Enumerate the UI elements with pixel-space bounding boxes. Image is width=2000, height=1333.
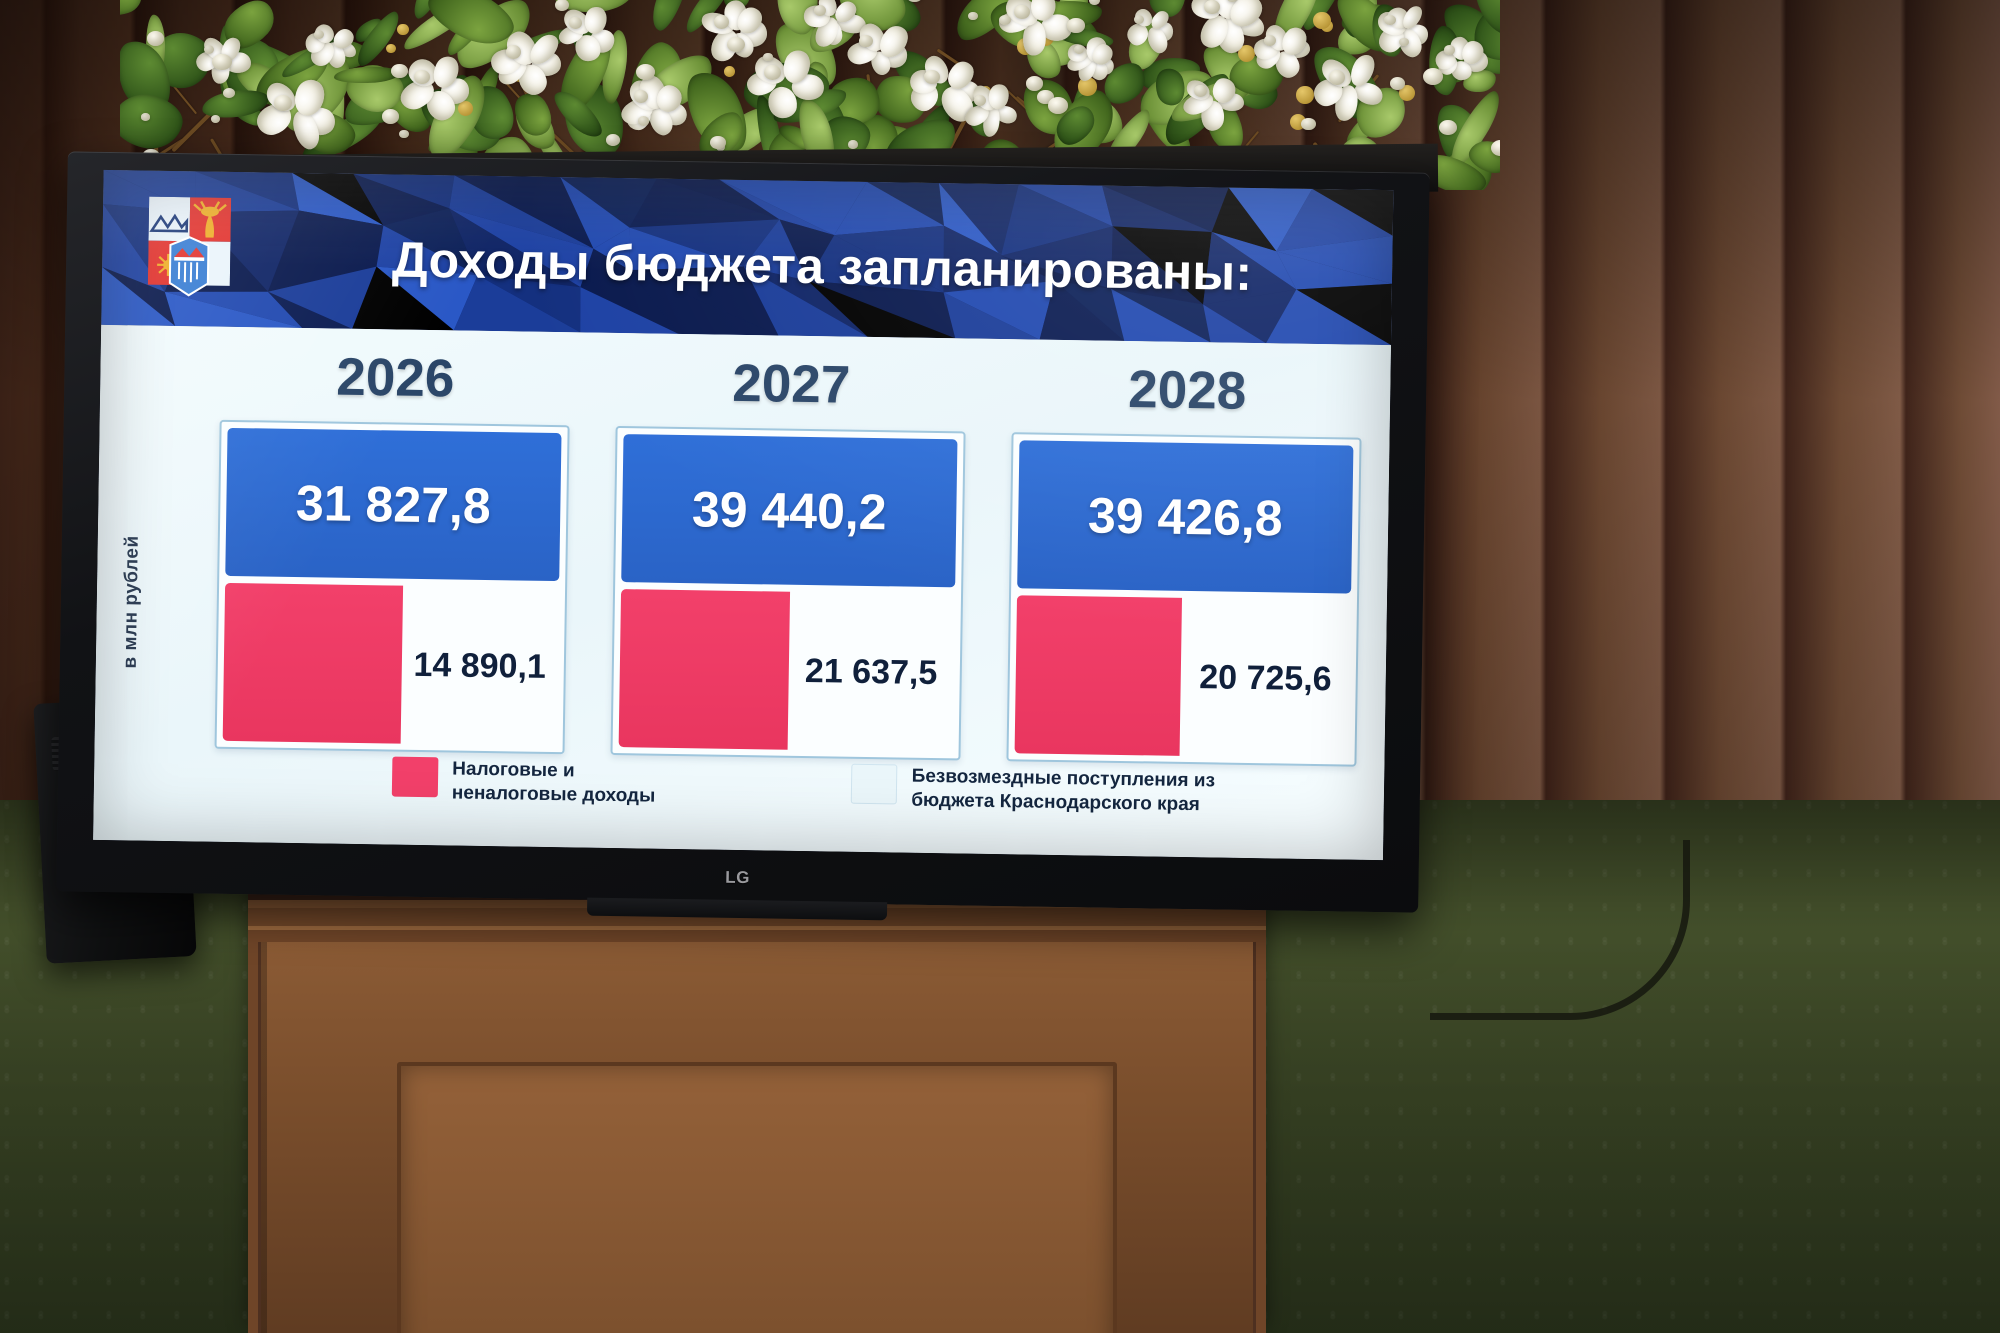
year-column-2028: 2028 39 426,8 18 737,2 20 725,6 (1006, 361, 1362, 766)
grant-revenue-segment: 20 725,6 (1180, 598, 1351, 759)
grant-revenue-value: 14 890,1 (413, 645, 546, 686)
flower-bud (399, 130, 409, 138)
chart-legend: Налоговые и неналоговые доходы Безвозмез… (213, 754, 1344, 844)
flower-bud (1399, 38, 1409, 46)
flower-bud (1048, 97, 1068, 114)
year-column-2026: 2026 31 827,8 16 937,7 14 890,1 (215, 349, 571, 754)
flower-bud (968, 12, 977, 20)
year-column-2027: 2027 39 440,2 17 802,7 21 637,5 (610, 355, 966, 760)
total-revenue-bar: 39 440,2 (621, 434, 957, 587)
year-card: 31 827,8 16 937,7 14 890,1 (215, 420, 570, 754)
tax-revenue-segment: 16 937,7 (223, 583, 403, 744)
flower-center (714, 15, 729, 29)
revenue-split-bar: 18 737,2 20 725,6 (1015, 595, 1351, 758)
presentation-slide: Доходы бюджета запланированы: в млн рубл… (93, 170, 1393, 860)
flower-bud (848, 140, 858, 149)
flower-bud (606, 134, 620, 146)
grant-revenue-segment: 21 637,5 (787, 592, 955, 753)
foliage-leaf (120, 0, 146, 21)
year-card: 39 440,2 17 802,7 21 637,5 (610, 426, 965, 760)
berry (1296, 86, 1313, 103)
tv-screen: Доходы бюджета запланированы: в млн рубл… (93, 170, 1393, 860)
axis-unit-label: в млн рублей (120, 535, 144, 668)
year-label: 2027 (616, 355, 967, 413)
berry (724, 66, 735, 77)
flower-center (924, 70, 940, 84)
legend-swatch-white (851, 764, 898, 805)
legend-swatch-pink (392, 757, 439, 798)
berry (386, 44, 395, 53)
grant-revenue-value: 21 637,5 (805, 651, 938, 692)
total-revenue-value: 39 426,8 (1088, 486, 1284, 547)
slide-header: Доходы бюджета запланированы: (101, 170, 1393, 345)
flower-center (1444, 45, 1455, 55)
flower-center (506, 45, 521, 59)
year-label: 2026 (220, 349, 571, 407)
berry (397, 24, 408, 35)
total-revenue-bar: 31 827,8 (225, 428, 561, 581)
flower-center (1204, 0, 1220, 14)
flower-bud (1390, 77, 1405, 90)
podium-inset-panel (397, 1062, 1117, 1333)
legend-item-grant: Безвозмездные поступления из бюджета Кра… (851, 764, 1215, 818)
tax-revenue-segment: 17 802,7 (619, 589, 790, 750)
flower-bud (1026, 76, 1043, 91)
total-revenue-value: 39 440,2 (692, 480, 888, 541)
flower-bud (391, 64, 408, 78)
year-columns: 2026 31 827,8 16 937,7 14 890,1 (215, 349, 1363, 767)
total-revenue-bar: 39 426,8 (1017, 440, 1353, 593)
flower-bud (727, 37, 745, 53)
legend-label: Налоговые и неналоговые доходы (452, 757, 656, 809)
berry (1313, 12, 1330, 29)
flower-bud (636, 64, 655, 80)
wooden-podium (248, 886, 1266, 1333)
flower-center (859, 35, 873, 47)
grant-revenue-value: 20 725,6 (1199, 658, 1332, 699)
tv-brand-logo: LG (725, 868, 750, 888)
lg-television: Доходы бюджета запланированы: в млн рубл… (56, 151, 1429, 912)
flower-bud (710, 136, 726, 150)
flower-bud (211, 115, 221, 123)
flower-center (1134, 15, 1144, 24)
flower-bud (141, 113, 150, 120)
grant-revenue-segment: 14 890,1 (400, 586, 559, 746)
year-label: 2028 (1012, 361, 1363, 419)
flower-center (569, 17, 582, 29)
legend-item-tax: Налоговые и неналоговые доходы (392, 757, 656, 810)
slide-body: в млн рублей 2026 31 827,8 16 937,7 (93, 325, 1391, 860)
total-revenue-value: 31 827,8 (296, 474, 492, 535)
flower-bud (1301, 118, 1316, 131)
revenue-split-bar: 17 802,7 21 637,5 (619, 589, 955, 752)
flower-center (1014, 5, 1030, 19)
flower-bud (382, 109, 399, 124)
flower-center (1384, 15, 1396, 25)
tax-revenue-segment: 18 737,2 (1015, 595, 1183, 756)
flower-bud (555, 0, 569, 11)
revenue-split-bar: 16 937,7 14 890,1 (223, 583, 559, 746)
year-card: 39 426,8 18 737,2 20 725,6 (1006, 432, 1361, 766)
flower-bud (638, 116, 649, 125)
flower-center (1264, 35, 1276, 46)
flower-bud (1067, 18, 1084, 33)
flower-center (764, 65, 781, 80)
podium-front-face (258, 942, 1256, 1333)
flower-center (1329, 70, 1345, 85)
legend-label: Безвозмездные поступления из бюджета Кра… (911, 765, 1215, 818)
flower-center (274, 95, 292, 111)
flower-bud (147, 31, 164, 46)
flower-bud (1423, 68, 1443, 85)
